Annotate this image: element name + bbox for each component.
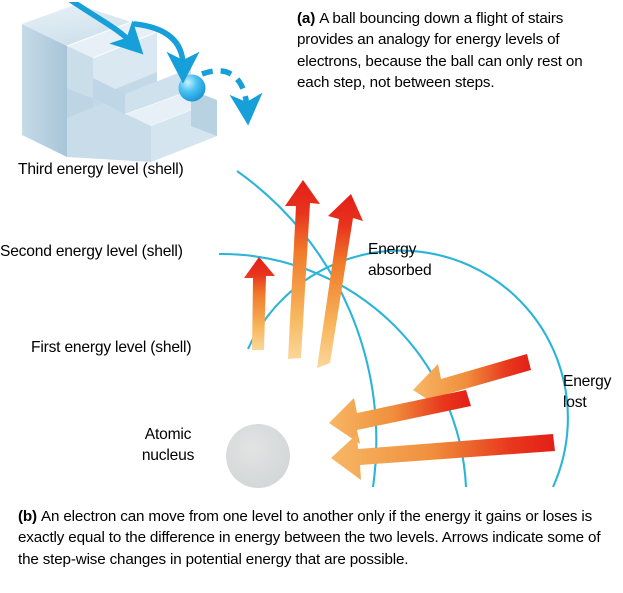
atomic-nucleus [226, 424, 290, 488]
label-energy-absorbed: Energy absorbed [368, 239, 431, 281]
label-energy-absorbed-line2: absorbed [368, 260, 431, 281]
caption-b-tag: (b) [18, 508, 41, 525]
absorbed-arrow-long-a [285, 180, 320, 359]
label-energy-lost-line2: lost [563, 392, 611, 413]
shell-label-second: Second energy level (shell) [0, 243, 183, 261]
label-atomic-nucleus-line2: nucleus [137, 445, 199, 466]
shell-label-first: First energy level (shell) [31, 339, 191, 357]
absorbed-arrow-long-b [317, 194, 363, 368]
label-energy-lost-line1: Energy [563, 371, 611, 392]
stairs-illustration [5, 2, 305, 162]
label-atomic-nucleus: Atomic nucleus [137, 424, 199, 466]
label-energy-absorbed-line1: Energy [368, 239, 431, 260]
bouncing-ball [179, 75, 206, 102]
figure-canvas: (a) A ball bouncing down a flight of sta… [0, 0, 623, 593]
caption-a-text: A ball bouncing down a flight of stairs … [297, 10, 583, 91]
caption-a-tag: (a) [297, 10, 319, 27]
shell-label-third: Third energy level (shell) [18, 161, 184, 179]
emitted-arrow-long [331, 434, 555, 480]
caption-b: (b) An electron can move from one level … [18, 506, 610, 570]
caption-b-text: An electron can move from one level to a… [18, 508, 600, 568]
caption-a: (a) A ball bouncing down a flight of sta… [297, 8, 617, 93]
label-atomic-nucleus-line1: Atomic [137, 424, 199, 445]
label-energy-lost: Energy lost [563, 371, 611, 413]
emitted-arrow-medium [329, 390, 471, 444]
absorbed-arrow-short [244, 257, 275, 350]
shell-diagram [0, 158, 623, 498]
